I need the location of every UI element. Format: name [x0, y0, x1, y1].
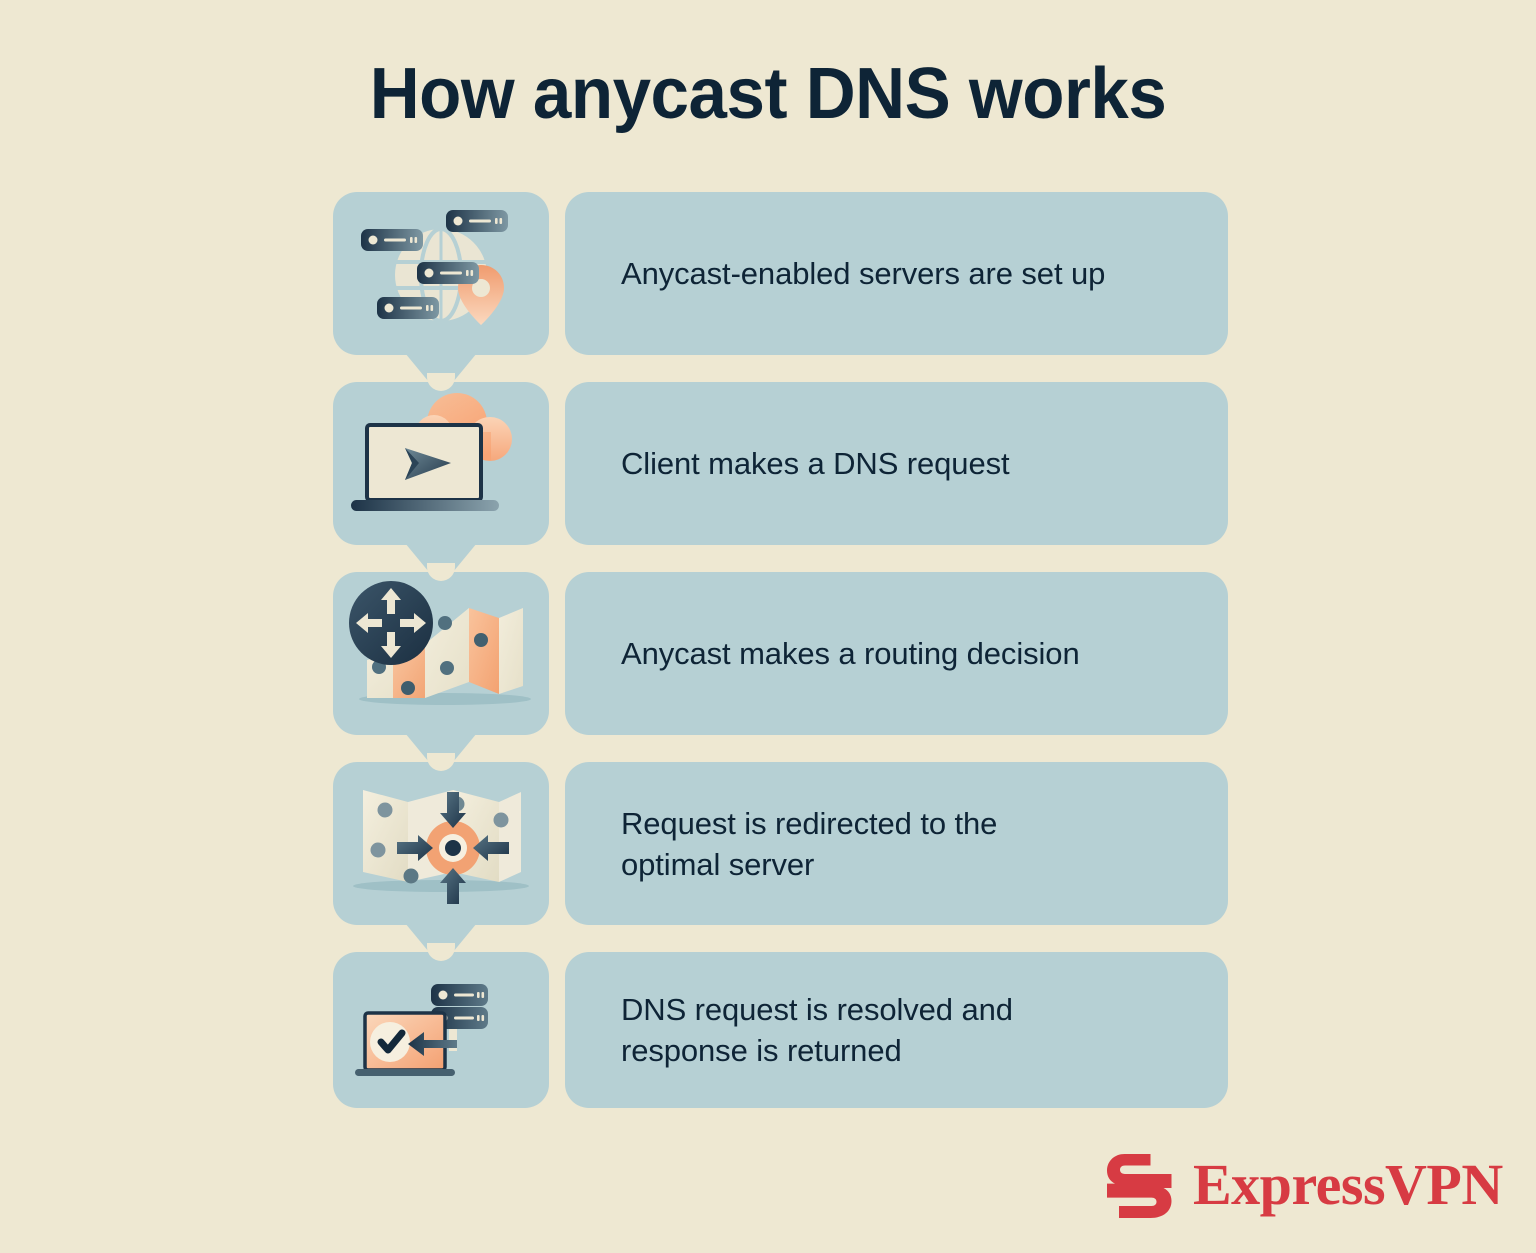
step-text-panel-2: Client makes a DNS request — [565, 382, 1228, 545]
step-text-panel-5: DNS request is resolved and response is … — [565, 952, 1228, 1108]
step-text-panel-3: Anycast makes a routing decision — [565, 572, 1228, 735]
step-label-4: Request is redirected to the optimal ser… — [565, 803, 1027, 885]
expressvpn-logo: ExpressVPN — [1103, 1146, 1448, 1224]
map-converging-target-icon — [333, 762, 549, 925]
step-label-5: DNS request is resolved and response is … — [565, 989, 1043, 1071]
step-icon-card-5 — [333, 952, 549, 1108]
step-icon-card-1 — [333, 192, 549, 355]
step-text-panel-4: Request is redirected to the optimal ser… — [565, 762, 1228, 925]
map-router-arrows-icon — [333, 572, 549, 735]
infographic-canvas: How anycast DNS works — [0, 0, 1536, 1253]
laptop-check-servers-icon — [333, 952, 549, 1108]
step-label-3: Anycast makes a routing decision — [565, 633, 1110, 674]
step-label-2: Client makes a DNS request — [565, 443, 1040, 484]
expressvpn-e-mark-icon — [1103, 1150, 1179, 1220]
step-text-panel-1: Anycast-enabled servers are set up — [565, 192, 1228, 355]
page-title: How anycast DNS works — [31, 52, 1506, 136]
globe-servers-pin-icon — [333, 192, 549, 355]
laptop-send-cloud-icon — [333, 382, 549, 545]
step-icon-card-4 — [333, 762, 549, 925]
step-icon-card-3 — [333, 572, 549, 735]
step-icon-card-2 — [333, 382, 549, 545]
expressvpn-wordmark: ExpressVPN — [1193, 1156, 1503, 1214]
step-label-1: Anycast-enabled servers are set up — [565, 253, 1135, 294]
